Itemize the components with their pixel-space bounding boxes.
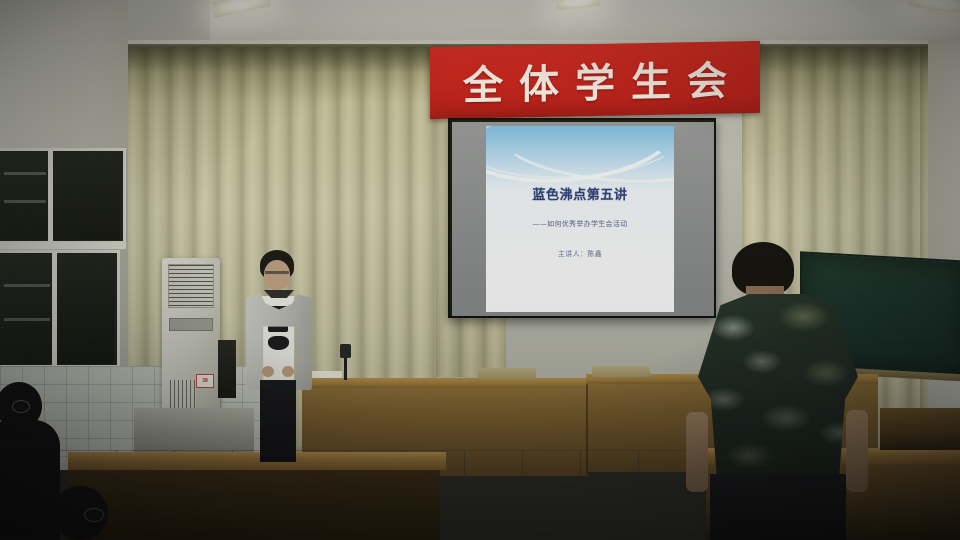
foreground-man-shirt (698, 294, 858, 482)
audience-left-glasses (12, 400, 30, 413)
audience-bottom-glasses (84, 508, 104, 522)
red-banner: 全体学生会 (430, 41, 760, 119)
ac-side-box (218, 340, 236, 398)
presenter-face (264, 260, 290, 290)
presenter-legs (260, 380, 296, 462)
bench-midground-right (880, 408, 960, 450)
window-mullion-vertical-2 (52, 252, 57, 366)
foreground-man (684, 242, 888, 540)
window-mullion-vertical-1 (48, 150, 53, 242)
presenter-shirt-graphic-arc (268, 336, 289, 350)
ac-base-cart (134, 408, 254, 456)
window-shelf-2 (4, 200, 46, 203)
ac-control-panel[interactable] (169, 318, 213, 331)
scene-root: 全体学生会 蓝色沸点第五讲 ——如何优秀举办学生会活动 主讲人：陈鑫 38 (0, 0, 960, 540)
foreground-man-arm-left (686, 412, 708, 492)
presenter-hand-left (262, 366, 274, 377)
foreground-man-pants (710, 474, 846, 540)
seated-audience-bottom-left (38, 486, 130, 540)
slide-presenter: 主讲人：陈鑫 (486, 249, 674, 259)
banner-text: 全体学生会 (430, 41, 760, 119)
projection-screen-frame: 蓝色沸点第五讲 ——如何优秀举办学生会活动 主讲人：陈鑫 (448, 118, 716, 318)
window-shelf-3 (4, 284, 50, 287)
ac-sticker: 38 (196, 374, 214, 388)
foreground-man-arm-right (846, 410, 868, 492)
window-shelf-1 (4, 172, 46, 175)
chair-back-1 (478, 368, 536, 379)
window-shelf-4 (4, 318, 50, 321)
window-lower-glass (0, 254, 114, 364)
ac-grille (168, 264, 214, 308)
presenter (238, 250, 320, 462)
presenter-hand-right (282, 366, 294, 377)
slide-subtitle: ——如何优秀举办学生会活动 (486, 219, 674, 229)
slide-content: 蓝色沸点第五讲 ——如何优秀举办学生会活动 主讲人：陈鑫 (486, 126, 674, 312)
microphone-head (340, 344, 351, 358)
slide-title: 蓝色沸点第五讲 (486, 184, 674, 203)
chair-back-2 (592, 366, 650, 377)
window-upper-glass (0, 152, 120, 240)
window-mullion-horizontal (0, 243, 126, 249)
presenter-glasses (265, 271, 289, 274)
